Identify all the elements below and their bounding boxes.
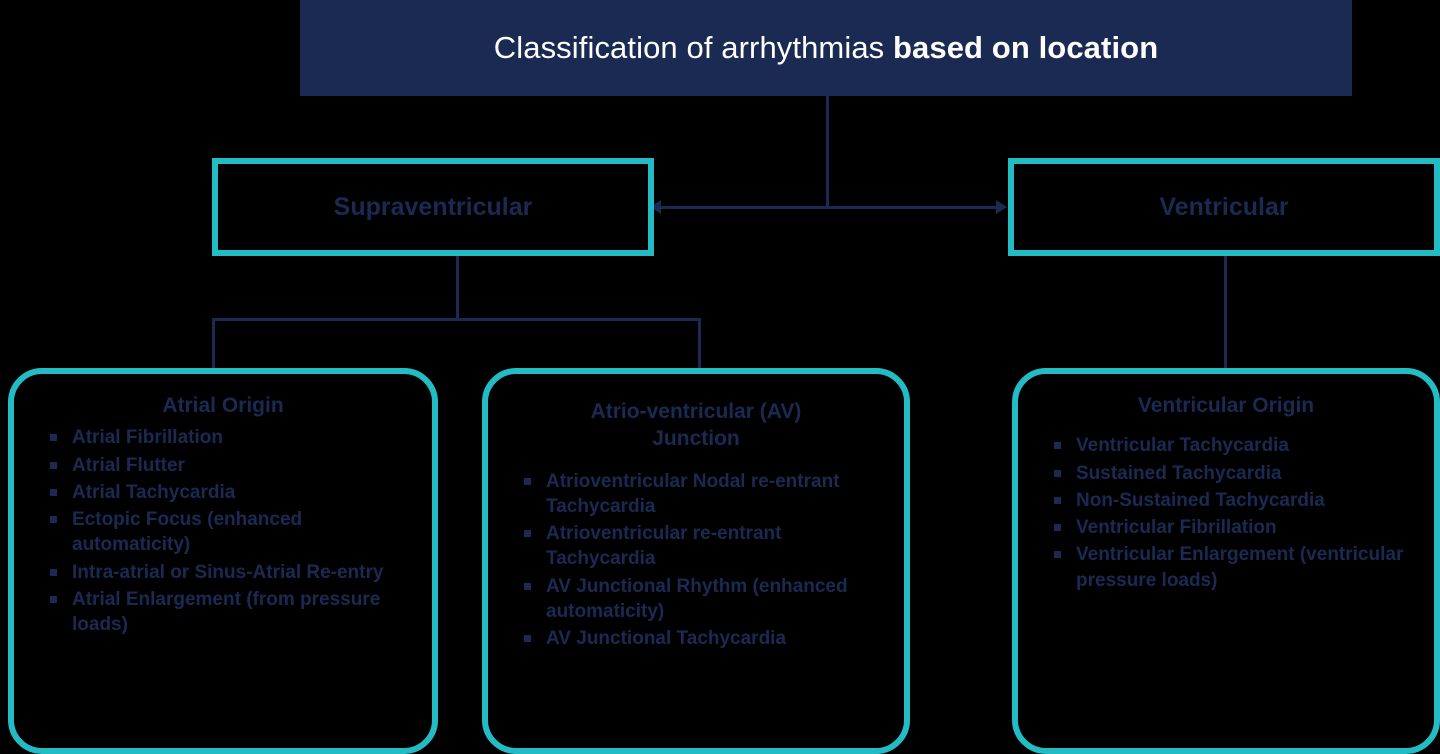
box-ventricular-label: Ventricular (1159, 193, 1288, 222)
list-item: Atrial Flutter (48, 453, 414, 478)
list-item: Ventricular Enlargement (ventricular pre… (1052, 542, 1416, 593)
box-ventricular[interactable]: Ventricular (1008, 158, 1440, 256)
connector-to-av-junction-card (698, 318, 701, 370)
connector-to-atrial-card (212, 318, 215, 370)
list-item: Ventricular Fibrillation (1052, 515, 1416, 540)
list-item: Atrioventricular re-entrant Tachycardia (522, 521, 886, 572)
card-av-junction[interactable]: Atrio-ventricular (AV) Junction Atrioven… (482, 368, 910, 754)
page-title: Classification of arrhythmias based on l… (494, 30, 1158, 66)
list-item: Intra-atrial or Sinus-Atrial Re-entry (48, 560, 414, 585)
card-av-junction-title-line1: Atrio-ventricular (AV) (591, 400, 802, 423)
card-av-junction-title: Atrio-ventricular (AV) Junction (502, 398, 890, 453)
list-item: Non-Sustained Tachycardia (1052, 488, 1416, 513)
card-ventricular-origin[interactable]: Ventricular Origin Ventricular Tachycard… (1012, 368, 1440, 754)
connector-supraventricular-stem (456, 256, 459, 320)
card-av-junction-list: Atrioventricular Nodal re-entrant Tachyc… (502, 459, 890, 652)
list-item: Ectopic Focus (enhanced automaticity) (48, 507, 414, 558)
list-item: Atrial Enlargement (from pressure loads) (48, 587, 414, 638)
arrow-right-icon (996, 200, 1007, 214)
list-item: Atrial Tachycardia (48, 480, 414, 505)
card-atrial-origin-list: Atrial Fibrillation Atrial Flutter Atria… (28, 425, 418, 637)
list-item: Atrioventricular Nodal re-entrant Tachyc… (522, 469, 886, 520)
list-item: Atrial Fibrillation (48, 425, 414, 450)
connector-ventricular-stem (1224, 256, 1227, 370)
list-item: Sustained Tachycardia (1052, 461, 1416, 486)
card-av-junction-title-line2: Junction (652, 427, 740, 450)
card-atrial-origin[interactable]: Atrial Origin Atrial Fibrillation Atrial… (8, 368, 438, 754)
title-text-normal: Classification of arrhythmias (494, 30, 893, 65)
box-supraventricular[interactable]: Supraventricular (212, 158, 654, 256)
title-text-bold: based on location (893, 30, 1158, 65)
connector-level2-horizontal (660, 206, 1002, 209)
connector-supraventricular-branch (212, 318, 701, 321)
box-supraventricular-label: Supraventricular (334, 193, 533, 222)
list-item: AV Junctional Rhythm (enhanced automatic… (522, 574, 886, 625)
card-ventricular-origin-list: Ventricular Tachycardia Sustained Tachyc… (1032, 425, 1420, 593)
list-item: Ventricular Tachycardia (1052, 433, 1416, 458)
diagram-title-banner: Classification of arrhythmias based on l… (300, 0, 1352, 96)
card-atrial-origin-title: Atrial Origin (28, 392, 418, 419)
card-ventricular-origin-title: Ventricular Origin (1032, 392, 1420, 419)
connector-title-to-split (826, 96, 829, 207)
list-item: AV Junctional Tachycardia (522, 626, 886, 651)
